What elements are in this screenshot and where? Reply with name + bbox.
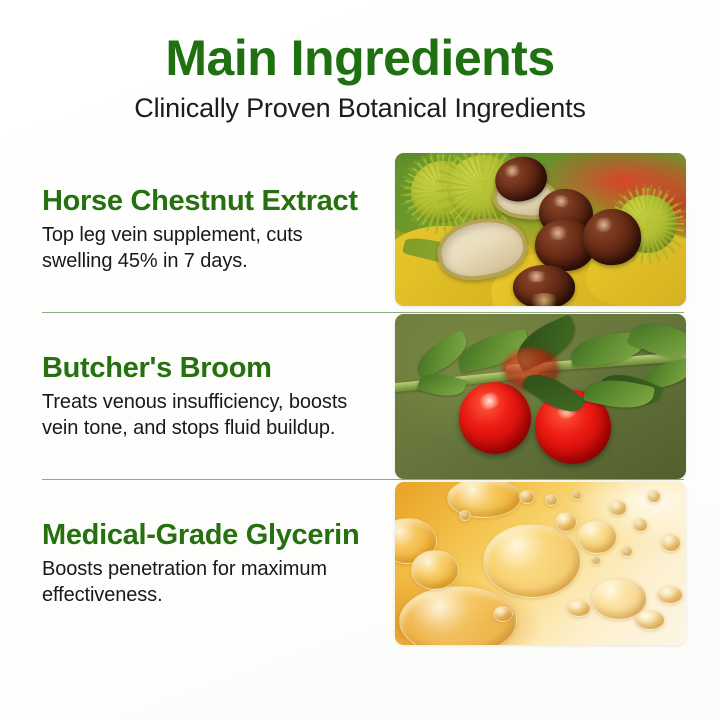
oil-bubble	[493, 606, 513, 622]
oil-bubble	[571, 490, 582, 500]
glycerin-oil-illustration	[395, 482, 686, 645]
header: Main Ingredients Clinically Proven Botan…	[0, 0, 720, 124]
oil-bubble	[661, 534, 681, 552]
oil-bubble	[591, 556, 601, 565]
oil-bubble	[635, 610, 665, 630]
oil-bubble	[657, 586, 683, 604]
ingredient-image-glycerin	[395, 482, 686, 645]
ingredient-description: Top leg vein supplement, cuts swelling 4…	[42, 222, 372, 274]
section-divider	[42, 479, 684, 480]
oil-bubble	[411, 550, 459, 590]
ingredient-name: Horse Chestnut Extract	[42, 185, 372, 218]
ingredient-text: Butcher's Broom Treats venous insufficie…	[42, 352, 372, 441]
oil-bubble	[459, 510, 471, 521]
oil-bubble	[609, 500, 627, 516]
oil-bubble	[567, 600, 591, 617]
oil-bubble	[647, 490, 661, 503]
oil-bubble	[483, 524, 581, 598]
red-berry	[459, 382, 531, 454]
ingredient-row-butchers-broom: Butcher's Broom Treats venous insufficie…	[0, 313, 720, 479]
ingredient-image-horse-chestnut	[395, 153, 686, 306]
butchers-broom-illustration	[395, 314, 686, 479]
oil-bubble	[621, 546, 633, 557]
ingredient-image-butchers-broom	[395, 314, 686, 479]
oil-bubble	[519, 490, 535, 504]
ingredient-row-horse-chestnut: Horse Chestnut Extract Top leg vein supp…	[0, 146, 720, 312]
oil-bubble	[555, 512, 577, 532]
ingredients-infographic: Main Ingredients Clinically Proven Botan…	[0, 0, 720, 720]
horse-chestnut-illustration	[395, 153, 686, 306]
page-title: Main Ingredients	[0, 30, 720, 86]
ingredient-text: Horse Chestnut Extract Top leg vein supp…	[42, 185, 372, 274]
ingredient-name: Butcher's Broom	[42, 352, 372, 385]
chestnut-nut	[513, 265, 575, 306]
page-subtitle: Clinically Proven Botanical Ingredients	[0, 92, 720, 124]
oil-bubble	[633, 518, 648, 532]
ingredient-description: Boosts penetration for maximum effective…	[42, 556, 372, 608]
ingredient-list: Horse Chestnut Extract Top leg vein supp…	[0, 146, 720, 646]
oil-bubble	[577, 520, 617, 554]
ingredient-description: Treats venous insufficiency, boosts vein…	[42, 389, 372, 441]
ingredient-text: Medical-Grade Glycerin Boosts penetratio…	[42, 519, 372, 608]
oil-bubble	[545, 494, 558, 506]
ingredient-row-glycerin: Medical-Grade Glycerin Boosts penetratio…	[0, 480, 720, 646]
ingredient-name: Medical-Grade Glycerin	[42, 519, 372, 552]
